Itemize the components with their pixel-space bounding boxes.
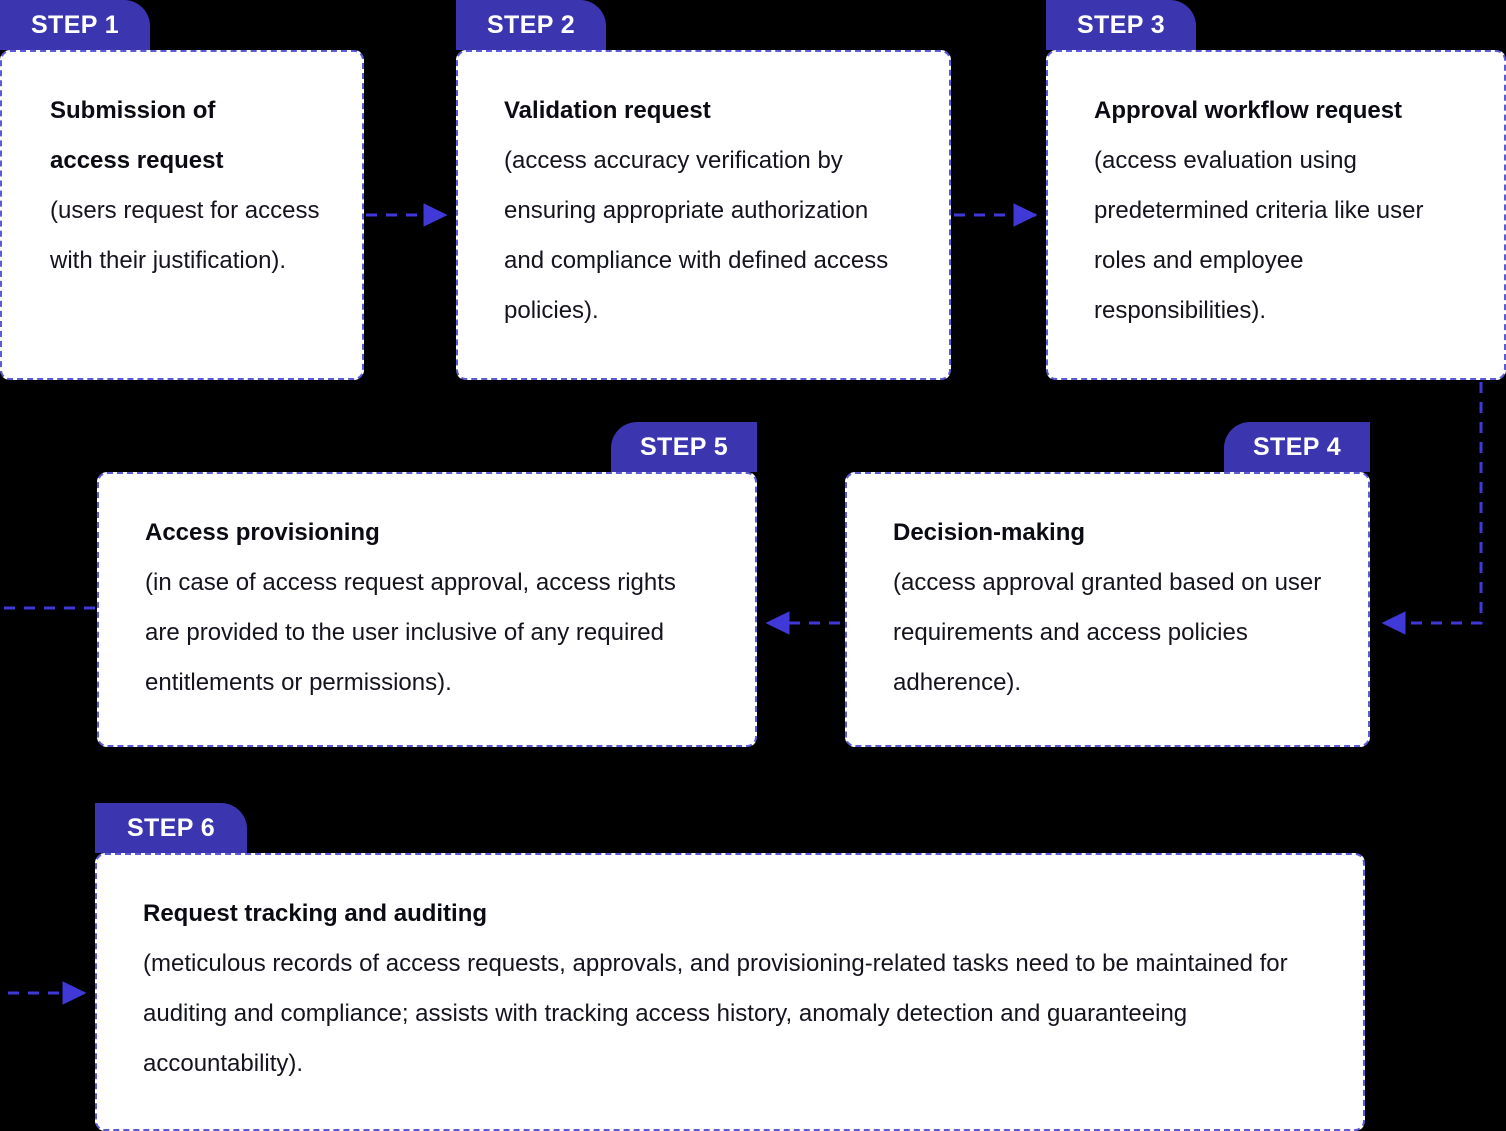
step-badge-5: STEP 5: [611, 422, 757, 472]
step-title-2: Validation request: [504, 86, 911, 136]
diagram-canvas: STEP 1 Submission of access request (use…: [0, 0, 1506, 1131]
step-card-body-4: Decision-making (access approval granted…: [845, 472, 1370, 747]
step-card-body-3: Approval workflow request (access evalua…: [1046, 50, 1506, 380]
step-description-2: (access accuracy verification by ensurin…: [504, 136, 911, 336]
step-title-4: Decision-making: [893, 508, 1330, 558]
step-badge-6: STEP 6: [95, 803, 247, 853]
step-card-body-5: Access provisioning (in case of access r…: [97, 472, 757, 747]
step-title-1: Submission of access request: [50, 86, 280, 186]
step-description-1: (users request for access with their jus…: [50, 186, 344, 286]
step-card-body-1: Submission of access request (users requ…: [0, 50, 364, 380]
step-title-5: Access provisioning: [145, 508, 717, 558]
step-card-body-2: Validation request (access accuracy veri…: [456, 50, 951, 380]
step-badge-1: STEP 1: [0, 0, 150, 50]
step-badge-3: STEP 3: [1046, 0, 1196, 50]
connector-step5-step6: [0, 608, 95, 993]
step-description-6: (meticulous records of access requests, …: [143, 939, 1325, 1089]
step-title-6: Request tracking and auditing: [143, 889, 1325, 939]
step-description-3: (access evaluation using predetermined c…: [1094, 136, 1466, 336]
connector-step3-step4: [1383, 382, 1481, 623]
step-badge-2: STEP 2: [456, 0, 606, 50]
step-title-3: Approval workflow request: [1094, 86, 1466, 136]
step-description-5: (in case of access request approval, acc…: [145, 558, 717, 708]
step-badge-4: STEP 4: [1224, 422, 1370, 472]
step-description-4: (access approval granted based on user r…: [893, 558, 1330, 708]
step-card-body-6: Request tracking and auditing (meticulou…: [95, 853, 1365, 1131]
